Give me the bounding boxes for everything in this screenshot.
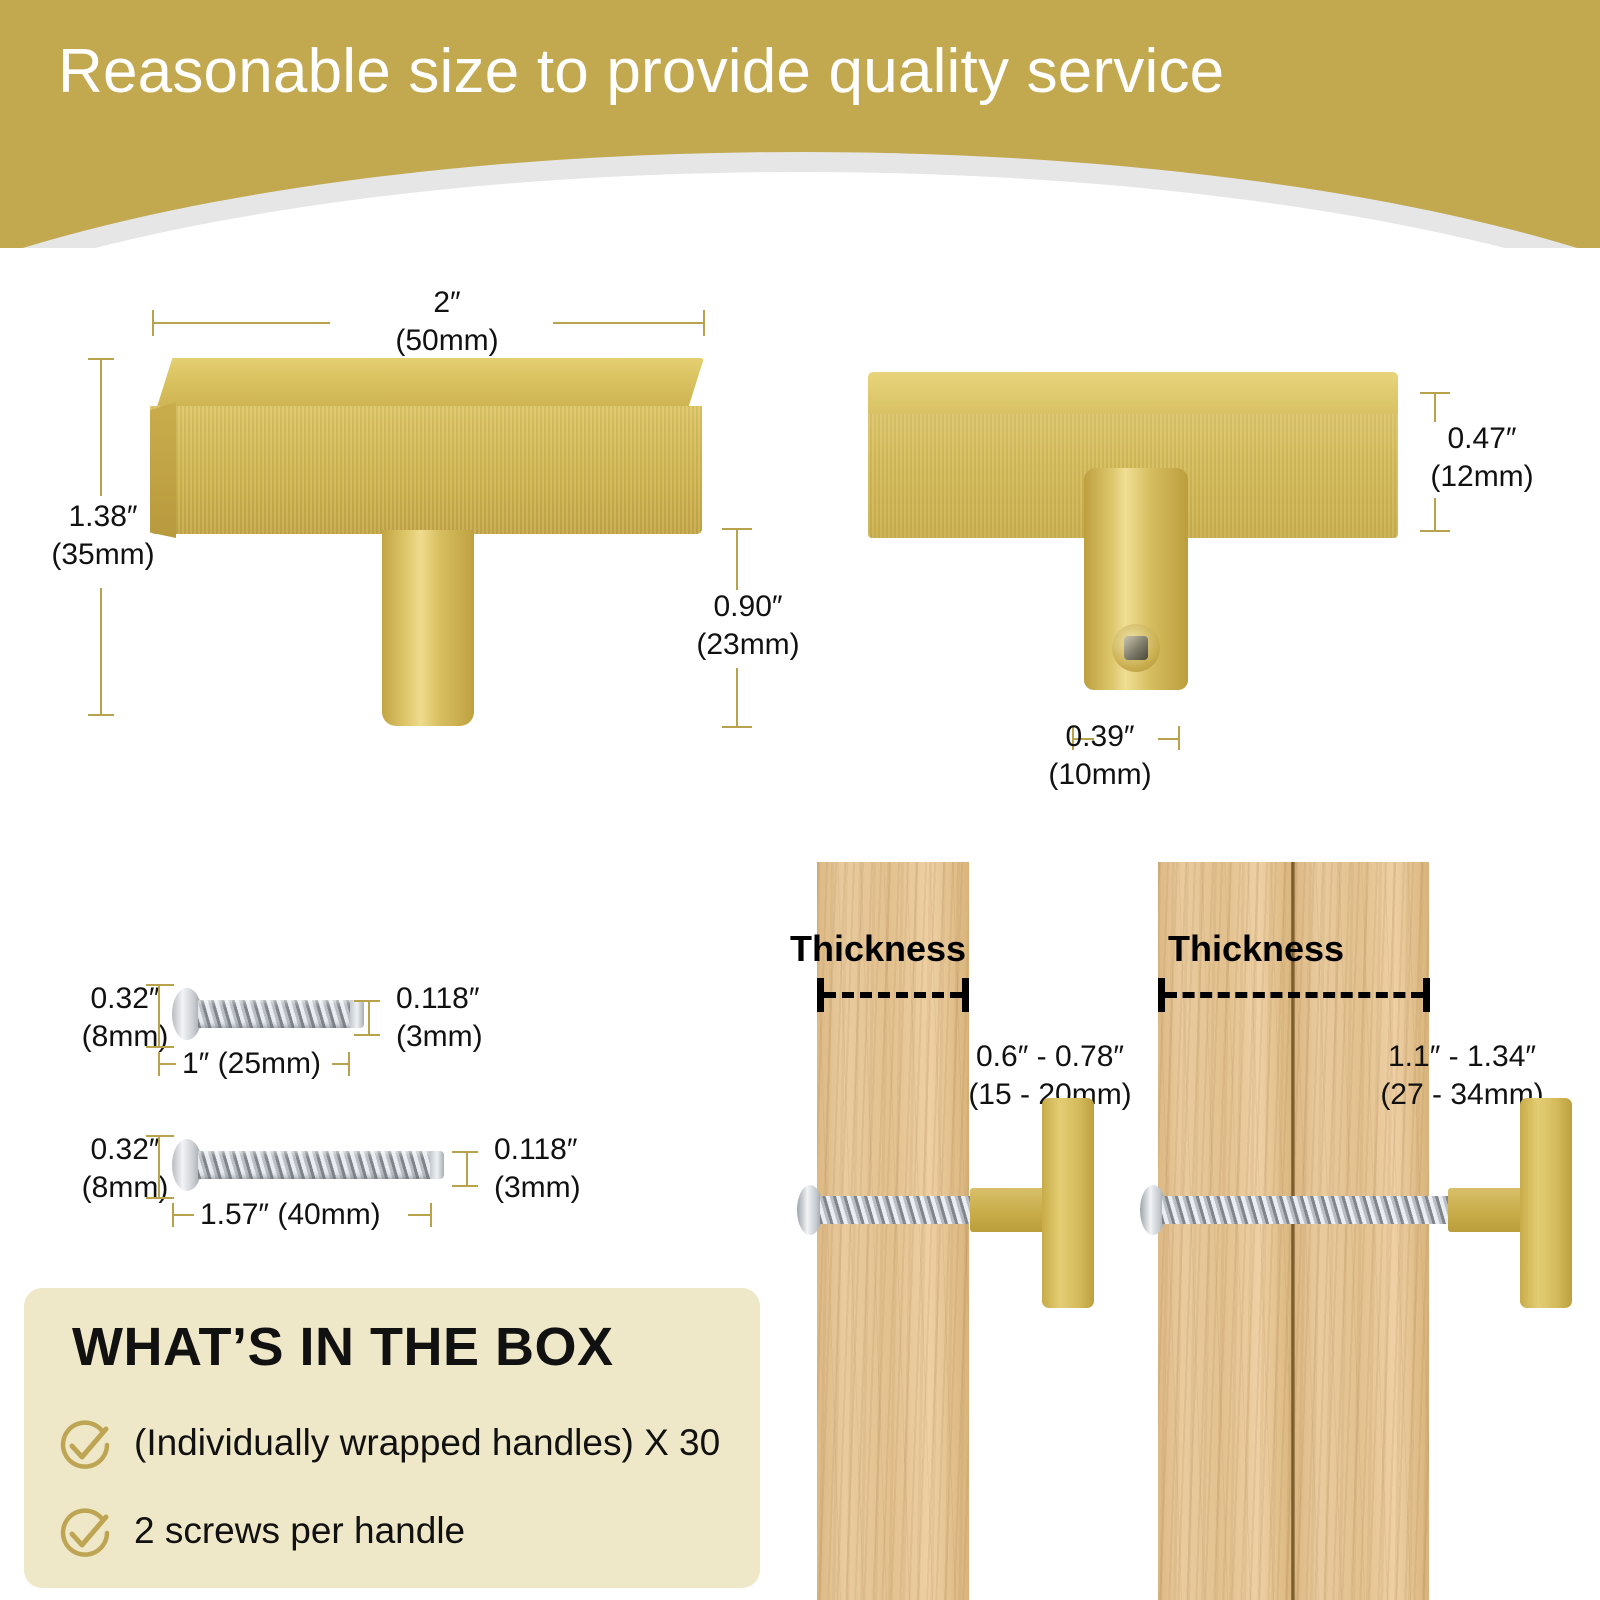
dim-tick — [348, 1052, 350, 1076]
dim-tick — [354, 1000, 380, 1002]
handle-width-dimension: 2″(50mm) — [357, 284, 537, 361]
dim-line — [736, 668, 738, 728]
dim-tick — [430, 1203, 432, 1227]
dim-line — [368, 1000, 370, 1036]
whats-in-the-box-title: WHAT’S IN THE BOX — [72, 1316, 614, 1378]
dim-tick — [88, 714, 114, 716]
dim-line — [158, 1135, 160, 1199]
dim-tick — [354, 1034, 380, 1036]
dim-tick — [146, 1135, 174, 1137]
dim-line — [736, 528, 738, 590]
dim-tick — [146, 984, 174, 986]
bar-depth-dimension: 0.47″(12mm) — [1382, 420, 1582, 497]
handle-post — [1448, 1188, 1523, 1232]
thickness-label: Thickness — [790, 928, 966, 970]
handle-front-image — [868, 372, 1398, 702]
post-diameter-dimension: 0.39″(10mm) — [1000, 718, 1200, 795]
screw-tip — [430, 1151, 444, 1179]
dim-tick — [452, 1185, 478, 1187]
threaded-insert-icon — [1124, 636, 1148, 660]
dim-line — [100, 358, 102, 496]
dim-cap — [1158, 978, 1165, 1012]
wood-panel-left — [1158, 862, 1294, 1600]
handle-post — [382, 530, 474, 726]
dim-tick — [452, 1151, 478, 1153]
list-item-label: 2 screws per handle — [134, 1510, 465, 1552]
dim-tick — [722, 726, 752, 728]
handle-front-face — [150, 406, 702, 534]
screw2-length-dimension: 1.57″ (40mm) — [200, 1196, 381, 1234]
screw-thread — [198, 1000, 354, 1028]
wood-panel-single — [817, 862, 969, 1600]
screw-40mm-image — [172, 1145, 462, 1185]
dim-line — [1434, 392, 1436, 422]
handle-side-face — [150, 402, 176, 538]
screw2-thread-dimension: 0.118″(3mm) — [494, 1131, 581, 1208]
screw-thread — [1162, 1196, 1454, 1224]
dim-line — [466, 1151, 468, 1187]
circle-check-icon — [56, 1416, 114, 1474]
circle-check-icon — [56, 1504, 114, 1562]
thickness-bracket — [824, 992, 962, 998]
dim-tick — [1178, 726, 1180, 750]
dim-tick — [703, 310, 705, 336]
screw-thread — [820, 1196, 975, 1224]
list-item-label: (Individually wrapped handles) X 30 — [134, 1422, 720, 1464]
dim-cap — [962, 978, 969, 1012]
dim-line — [172, 1214, 194, 1216]
dim-cap — [817, 978, 824, 1012]
dim-tick — [146, 1046, 174, 1048]
screw1-thread-dimension: 0.118″(3mm) — [396, 980, 483, 1057]
whats-in-the-box-panel: WHAT’S IN THE BOX (Individually wrapped … — [24, 1288, 760, 1588]
screw-thread — [198, 1151, 434, 1179]
screw-25mm-image — [172, 994, 362, 1034]
header-banner: Reasonable size to provide quality servi… — [0, 0, 1600, 248]
handle-bar — [1520, 1098, 1572, 1308]
screw1-length-dimension: 1″ (25mm) — [182, 1045, 321, 1083]
screw-tip — [350, 1000, 364, 1028]
dim-line — [408, 1214, 430, 1216]
dim-line — [152, 322, 330, 324]
dim-line — [1158, 738, 1180, 740]
handle-post — [970, 1188, 1045, 1232]
thickness-label: Thickness — [1168, 928, 1344, 970]
handle-angled-image — [150, 358, 710, 730]
dim-tick — [146, 1197, 174, 1199]
dim-line — [553, 322, 705, 324]
dim-line — [158, 984, 160, 1048]
dim-tick — [1420, 530, 1450, 532]
dim-line — [1434, 498, 1436, 532]
thickness-bracket — [1165, 992, 1423, 998]
dim-line — [158, 1063, 176, 1065]
dim-cap — [1423, 978, 1430, 1012]
handle-top-face — [156, 358, 704, 410]
handle-bar — [1042, 1098, 1094, 1308]
handle-top-face — [868, 372, 1398, 418]
dim-line — [100, 588, 102, 716]
page-title: Reasonable size to provide quality servi… — [58, 36, 1224, 107]
wood-panel-right — [1295, 862, 1429, 1600]
